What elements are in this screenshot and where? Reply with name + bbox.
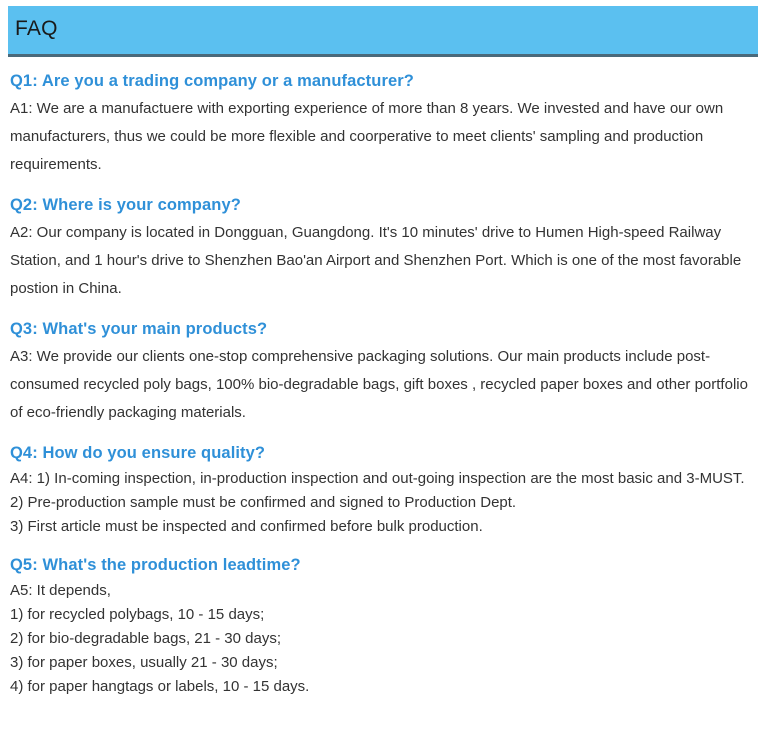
faq-answer-line: A4: 1) In-coming inspection, in-producti…	[10, 467, 754, 491]
faq-page: FAQ Q1: Are you a trading company or a m…	[0, 0, 765, 748]
faq-question: Q2: Where is your company?	[10, 193, 754, 217]
faq-answer-line: 1) for recycled polybags, 10 - 15 days;	[10, 603, 754, 627]
faq-question: Q1: Are you a trading company or a manuf…	[10, 69, 754, 93]
faq-answer: A1: We are a manufactuere with exporting…	[10, 95, 754, 179]
faq-answer-line: 3) First article must be inspected and c…	[10, 515, 754, 539]
faq-item: Q2: Where is your company?A2: Our compan…	[10, 193, 754, 303]
faq-answer-line: A2: Our company is located in Dongguan, …	[10, 219, 754, 303]
faq-banner: FAQ	[8, 6, 758, 57]
faq-item: Q1: Are you a trading company or a manuf…	[10, 69, 754, 179]
faq-answer-line: A1: We are a manufactuere with exporting…	[10, 95, 754, 179]
faq-item: Q4: How do you ensure quality?A4: 1) In-…	[10, 441, 754, 539]
faq-question: Q5: What's the production leadtime?	[10, 553, 754, 577]
faq-answer-line: A3: We provide our clients one-stop comp…	[10, 343, 754, 427]
faq-question: Q3: What's your main products?	[10, 317, 754, 341]
faq-answer: A2: Our company is located in Dongguan, …	[10, 219, 754, 303]
faq-answer: A3: We provide our clients one-stop comp…	[10, 343, 754, 427]
faq-question: Q4: How do you ensure quality?	[10, 441, 754, 465]
faq-answer-line: A5: It depends,	[10, 579, 754, 603]
faq-list: Q1: Are you a trading company or a manuf…	[10, 69, 754, 699]
page-title: FAQ	[15, 16, 58, 42]
faq-item: Q3: What's your main products?A3: We pro…	[10, 317, 754, 427]
faq-answer: A5: It depends,1) for recycled polybags,…	[10, 579, 754, 699]
faq-answer-line: 2) Pre-production sample must be confirm…	[10, 491, 754, 515]
faq-answer-line: 3) for paper boxes, usually 21 - 30 days…	[10, 651, 754, 675]
faq-answer-line: 2) for bio-degradable bags, 21 - 30 days…	[10, 627, 754, 651]
faq-item: Q5: What's the production leadtime?A5: I…	[10, 553, 754, 699]
faq-answer: A4: 1) In-coming inspection, in-producti…	[10, 467, 754, 539]
faq-answer-line: 4) for paper hangtags or labels, 10 - 15…	[10, 675, 754, 699]
